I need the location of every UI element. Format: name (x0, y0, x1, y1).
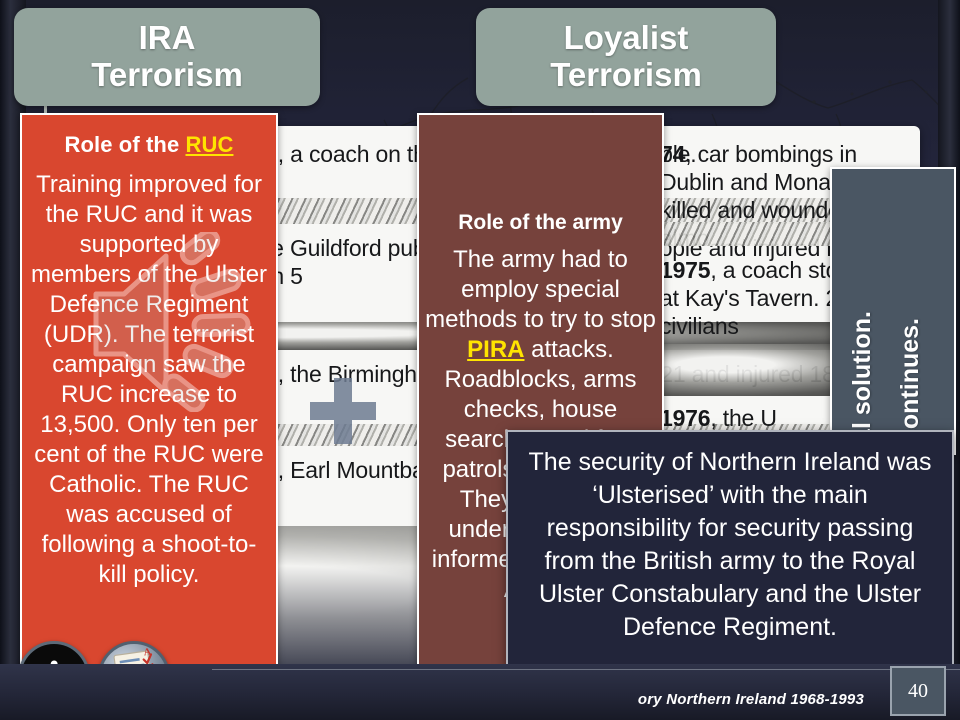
panel-army-body-part1: The army had to employ special methods t… (425, 246, 656, 333)
panel-security-body: The security of Northern Ireland was ‘Ul… (529, 448, 932, 641)
vertical-text-line-a: al solution. (850, 311, 875, 443)
plaque-ira-line2: Terrorism (91, 56, 243, 93)
panel-army-highlight-pira: PIRA (467, 336, 524, 363)
plaque-ira-terrorism[interactable]: IRA Terrorism (14, 8, 320, 106)
panel-army-heading: Role of the army (425, 211, 656, 235)
vertical-text-line-b: continues. (898, 318, 923, 443)
svg-text:A: A (143, 646, 152, 658)
footer-divider (212, 669, 960, 670)
panel-ruc-heading-highlight: RUC (186, 132, 234, 157)
plaque-loyalist-text: Loyalist Terrorism (550, 20, 702, 94)
panel-security-ulsterised[interactable]: The security of Northern Ireland was ‘Ul… (506, 430, 954, 670)
plaque-loyalist-terrorism[interactable]: Loyalist Terrorism (476, 8, 776, 106)
slide-canvas: 974, a coach on the M62 killed twelve pe… (0, 0, 960, 720)
panel-ruc-heading: Role of the RUC (30, 132, 268, 158)
panel-role-of-the-ruc[interactable]: Role of the RUC Training improved for th… (20, 113, 278, 703)
plaque-loyalist-line2: Terrorism (550, 56, 702, 93)
plaque-ira-text: IRA Terrorism (91, 20, 243, 94)
plaque-loyalist-line1: Loyalist (564, 19, 689, 56)
panel-ruc-heading-prefix: Role of the (65, 132, 186, 157)
panel-ruc-body: Training improved for the RUC and it was… (30, 170, 268, 590)
plaque-ira-line1: IRA (139, 19, 196, 56)
footer-title: ory Northern Ireland 1968-1993 (638, 691, 864, 708)
page-number-badge: 40 (890, 666, 946, 716)
panel-vertical-political-solution[interactable]: al solution. continues. (830, 167, 956, 455)
